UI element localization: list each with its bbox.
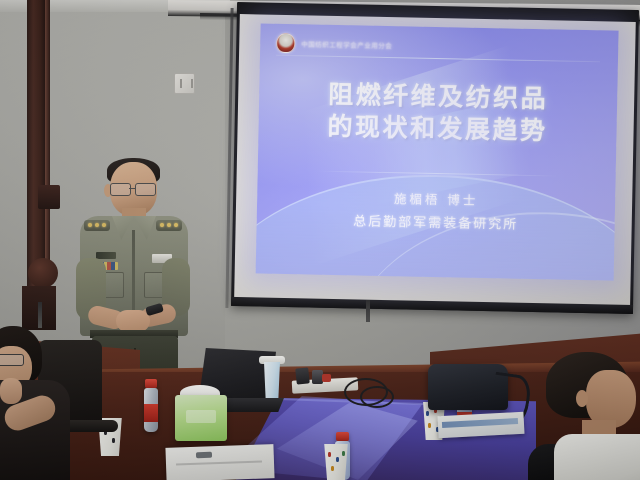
presenter-epaulet-left: [84, 220, 110, 231]
wall-socket-icon[interactable]: [174, 73, 195, 94]
audience-right-shirt: [554, 434, 640, 480]
presenter-epaulet-right: [156, 220, 182, 231]
tissue-box-label: [186, 410, 216, 423]
cable-loop-2: [360, 386, 394, 408]
presenter-glasses-icon: [109, 183, 158, 195]
audience-left-hand: [0, 378, 22, 404]
screen-hook-left: [38, 302, 42, 328]
audience-right-ear: [576, 390, 588, 407]
power-adapter-1: [295, 367, 310, 384]
bottle-cap-2: [336, 432, 349, 441]
audience-left: [0, 326, 102, 480]
society-emblem-icon: [276, 33, 295, 53]
presenter-badge: [96, 252, 116, 259]
slide-title: 阻燃纤维及纺织品 的现状和发展趋势: [258, 77, 617, 148]
presenter-hands: [116, 310, 150, 332]
screen-hook-right: [366, 300, 370, 322]
audience-right: [520, 352, 640, 480]
audience-left-glasses-icon: [0, 354, 24, 366]
projection-screen: 中国纺织工程学会产业用分会 阻燃纤维及纺织品 的现状和发展趋势 施楣梧 博士 总…: [231, 2, 639, 314]
slide-organization: 中国纺织工程学会产业用分会: [301, 38, 392, 50]
door-hinge: [38, 185, 60, 209]
presentation-photo: 中国纺织工程学会产业用分会 阻燃纤维及纺织品 的现状和发展趋势 施楣梧 博士 总…: [0, 0, 640, 480]
bottle-label-1: [144, 404, 158, 422]
white-box-tab: [196, 452, 212, 459]
door-knob[interactable]: [28, 258, 58, 288]
power-indicator: [322, 374, 331, 382]
slide-header: 中国纺织工程学会产业用分会: [276, 33, 392, 55]
projected-slide: 中国纺织工程学会产业用分会 阻燃纤维及纺织品 的现状和发展趋势 施楣梧 博士 总…: [256, 23, 619, 280]
bottle-cap-1: [145, 379, 157, 388]
